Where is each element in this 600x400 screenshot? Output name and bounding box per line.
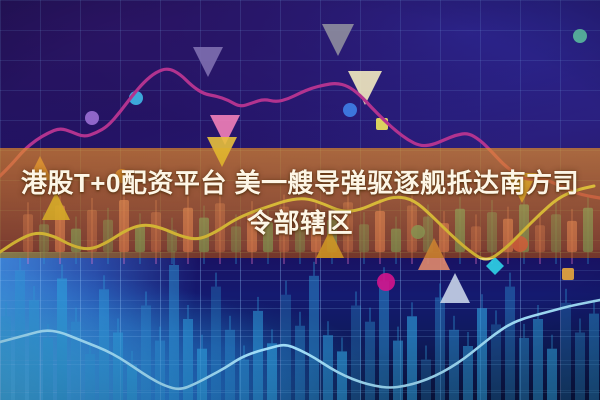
headline-line-1: 港股T+0配资平台 美一艘导弹驱逐舰抵达南方司 <box>21 163 579 203</box>
headline-block: 港股T+0配资平台 美一艘导弹驱逐舰抵达南方司 令部辖区 <box>0 148 600 258</box>
news-thumbnail-image: 港股T+0配资平台 美一艘导弹驱逐舰抵达南方司 令部辖区 <box>0 0 600 400</box>
headline-line-2: 令部辖区 <box>247 203 353 243</box>
